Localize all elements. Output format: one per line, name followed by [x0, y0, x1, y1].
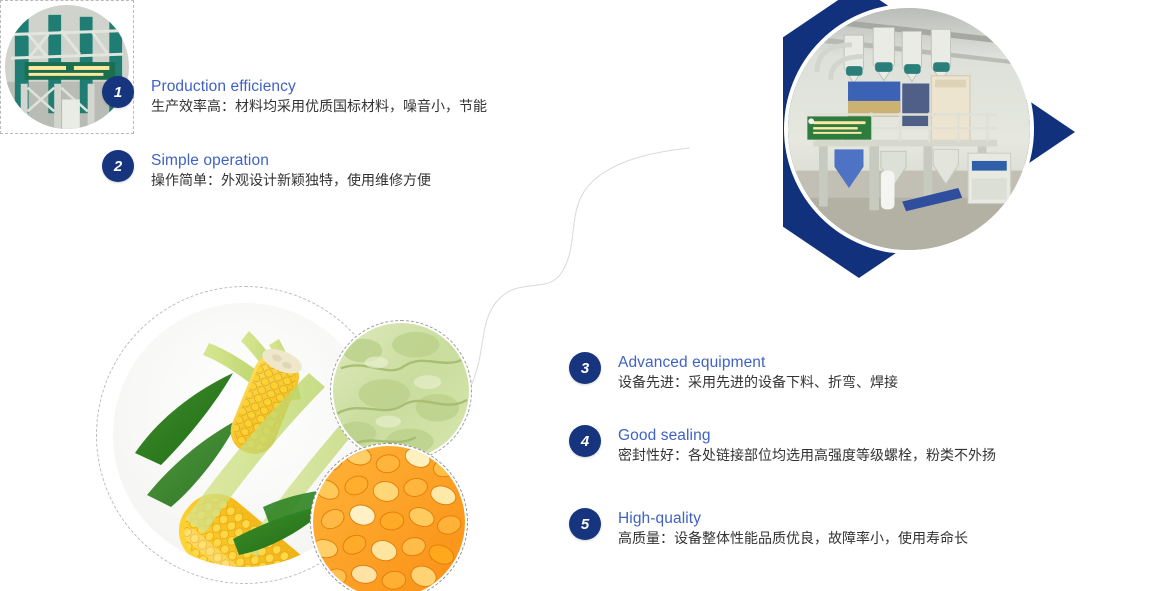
corn-paste-photo — [330, 320, 472, 462]
machine-large-photo — [784, 4, 1034, 254]
feature-item-1: 1 Production efficiency 生产效率高：材料均采用优质国标材… — [102, 76, 487, 118]
feature-title-2: Simple operation — [151, 151, 431, 170]
feature-item-3: 3 Advanced equipment 设备先进：采用先进的设备下料、折弯、焊… — [569, 352, 898, 394]
feature-item-2: 2 Simple operation 操作简单：外观设计新颖独特，使用维修方便 — [102, 150, 431, 192]
feature-badge-1: 1 — [102, 76, 134, 108]
feature-title-3: Advanced equipment — [618, 353, 898, 372]
feature-item-4: 4 Good sealing 密封性好：各处链接部位均选用高强度等级螺栓，粉类不… — [569, 425, 996, 467]
feature-badge-3: 3 — [569, 352, 601, 384]
feature-text-1: Production efficiency 生产效率高：材料均采用优质国标材料，… — [151, 76, 487, 118]
feature-text-5: High-quality 高质量：设备整体性能品质优良，故障率小，使用寿命长 — [618, 508, 968, 550]
feature-title-5: High-quality — [618, 509, 968, 528]
feature-text-2: Simple operation 操作简单：外观设计新颖独特，使用维修方便 — [151, 150, 431, 192]
feature-title-4: Good sealing — [618, 426, 996, 445]
feature-desc-4: 密封性好：各处链接部位均选用高强度等级螺栓，粉类不外扬 — [618, 445, 996, 467]
feature-text-3: Advanced equipment 设备先进：采用先进的设备下料、折弯、焊接 — [618, 352, 898, 394]
feature-item-5: 5 High-quality 高质量：设备整体性能品质优良，故障率小，使用寿命长 — [569, 508, 968, 550]
feature-badge-5: 5 — [569, 508, 601, 540]
feature-badge-4: 4 — [569, 425, 601, 457]
feature-badge-2: 2 — [102, 150, 134, 182]
feature-desc-1: 生产效率高：材料均采用优质国标材料，噪音小，节能 — [151, 96, 487, 118]
feature-desc-2: 操作简单：外观设计新颖独特，使用维修方便 — [151, 170, 431, 192]
feature-desc-5: 高质量：设备整体性能品质优良，故障率小，使用寿命长 — [618, 528, 968, 550]
feature-text-4: Good sealing 密封性好：各处链接部位均选用高强度等级螺栓，粉类不外扬 — [618, 425, 996, 467]
corn-kernels-photo — [310, 443, 468, 591]
feature-title-1: Production efficiency — [151, 77, 487, 96]
feature-desc-3: 设备先进：采用先进的设备下料、折弯、焊接 — [618, 372, 898, 394]
feature-infographic: 1 Production efficiency 生产效率高：材料均采用优质国标材… — [0, 0, 1154, 591]
